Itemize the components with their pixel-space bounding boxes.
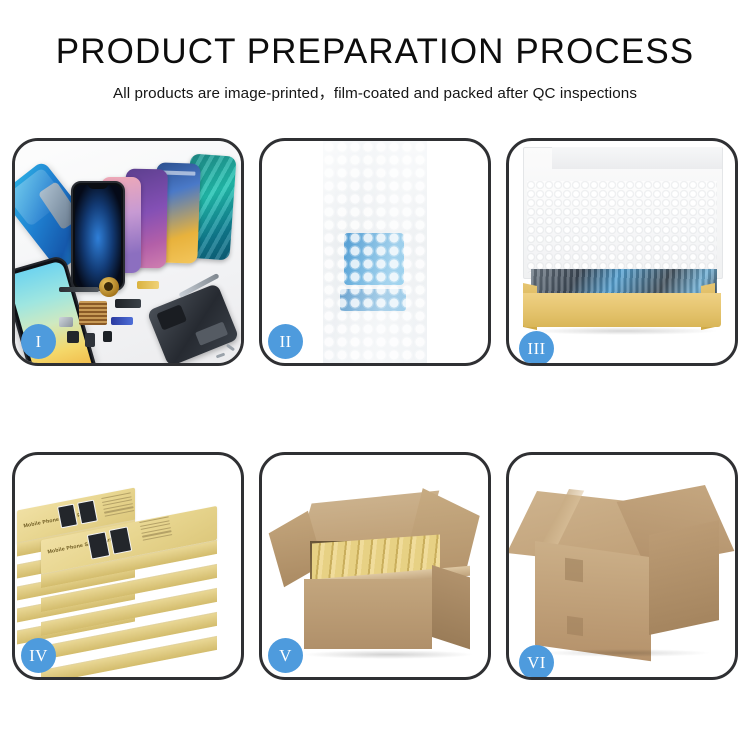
carton-shadow (302, 650, 474, 659)
chip-component (103, 331, 112, 342)
flex-cable-component (115, 299, 141, 308)
page-title: PRODUCT PREPARATION PROCESS (0, 32, 750, 72)
foam-padding (527, 181, 717, 273)
step-number-badge: II (268, 324, 303, 359)
speaker-component-icon (99, 277, 119, 297)
phone-notch (88, 184, 108, 189)
phone-front-glass (71, 181, 125, 291)
process-step-panel-5: V (259, 452, 491, 680)
chip-component (85, 333, 95, 347)
box-shadow (529, 327, 719, 335)
carton-front-face (304, 579, 432, 649)
chip-component (67, 331, 79, 343)
page-header: PRODUCT PREPARATION PROCESS All products… (0, 0, 750, 103)
blue-flex-component (111, 317, 133, 325)
lid-top-edge (552, 147, 722, 169)
carton-front-face (535, 541, 651, 661)
step-number-badge: V (268, 638, 303, 673)
mesh-component-icon (79, 301, 107, 325)
flex-strip-component (59, 287, 99, 292)
sim-tray-component (59, 317, 73, 327)
process-step-panel-1: I (12, 138, 244, 366)
step-number-badge: III (519, 331, 554, 366)
process-step-panel-4: Mobile Phone Spare Parts Mobile Phone Sp… (12, 452, 244, 680)
step-number-badge: IV (21, 638, 56, 673)
process-step-panel-6: VI (506, 452, 738, 680)
carton-shadow (539, 649, 711, 657)
step-number-badge: VI (519, 645, 554, 680)
gold-flex-component (137, 281, 159, 289)
foam-box-illustration (509, 141, 735, 363)
carton-tab-lower (567, 616, 583, 636)
carton-side-face (432, 565, 470, 649)
sealed-carton-illustration (509, 455, 735, 677)
process-step-panel-3: III (506, 138, 738, 366)
plastic-sheen (323, 141, 427, 363)
kraft-box-front (523, 293, 721, 327)
page-subtitle: All products are image-printed，film-coat… (0, 81, 750, 103)
phone-screen (75, 185, 121, 287)
process-steps-grid: I II III (0, 138, 750, 680)
step-number-badge: I (21, 324, 56, 359)
carton-tab-upper (565, 558, 583, 583)
process-step-panel-2: II (259, 138, 491, 366)
carton-side-face (649, 520, 719, 635)
